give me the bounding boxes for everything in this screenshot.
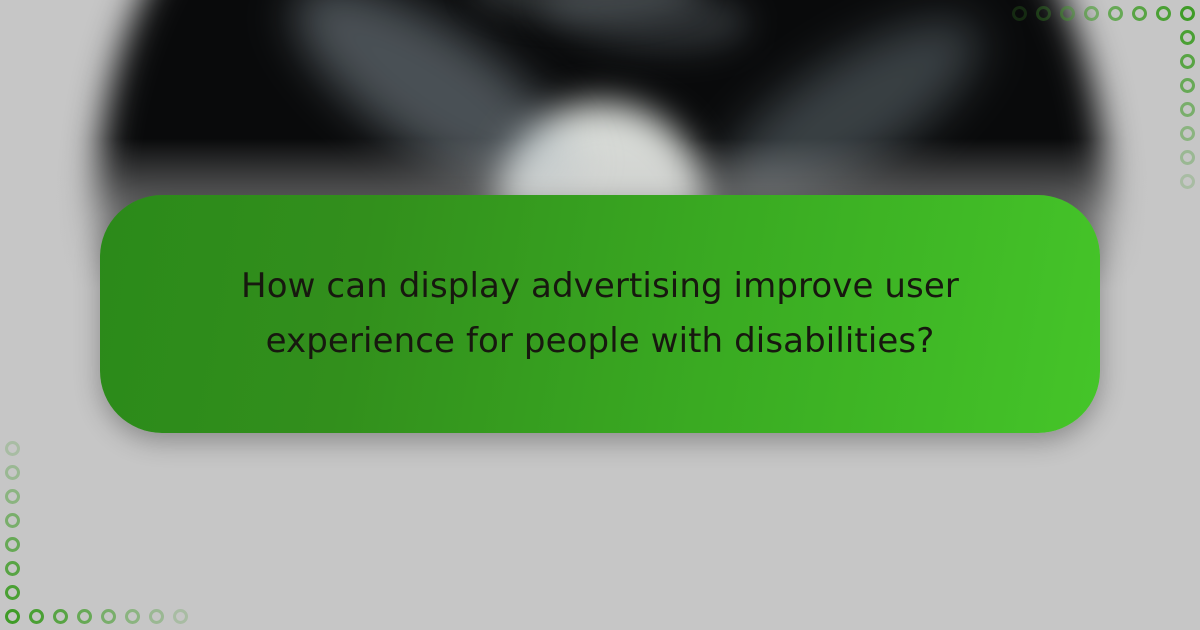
- dot-bottom-left-row-1: [29, 609, 44, 624]
- question-text: How can display advertising improve user…: [230, 259, 970, 369]
- dot-top-right-col-6: [1180, 150, 1195, 165]
- dot-top-right-col-7: [1180, 174, 1195, 189]
- dot-top-right-col-1: [1180, 30, 1195, 45]
- dot-bottom-left-col-0: [5, 441, 20, 456]
- dot-top-right-row-6: [1156, 6, 1171, 21]
- dot-top-right-col-3: [1180, 78, 1195, 93]
- dot-bottom-left-row-6: [149, 609, 164, 624]
- dot-bottom-left-row-0: [5, 609, 20, 624]
- dot-top-right-row-1: [1036, 6, 1051, 21]
- dot-top-right-row-7: [1180, 6, 1195, 21]
- dot-bottom-left-col-6: [5, 585, 20, 600]
- dot-top-right-col-4: [1180, 102, 1195, 117]
- dot-top-right-row-4: [1108, 6, 1123, 21]
- dot-top-right-col-2: [1180, 54, 1195, 69]
- dot-bottom-left-row-3: [77, 609, 92, 624]
- dot-top-right-col-5: [1180, 126, 1195, 141]
- dot-top-right-row-5: [1132, 6, 1147, 21]
- dot-top-right-row-3: [1084, 6, 1099, 21]
- dot-bottom-left-row-2: [53, 609, 68, 624]
- dot-bottom-left-col-2: [5, 489, 20, 504]
- dot-top-right-row-0: [1012, 6, 1027, 21]
- dot-top-right-row-2: [1060, 6, 1075, 21]
- dot-bottom-left-row-4: [101, 609, 116, 624]
- poster-canvas: How can display advertising improve user…: [0, 0, 1200, 630]
- dot-bottom-left-col-4: [5, 537, 20, 552]
- dot-pattern-bottom-left: [0, 430, 210, 630]
- dot-pattern-top-right: [990, 0, 1200, 200]
- dot-bottom-left-col-3: [5, 513, 20, 528]
- dot-bottom-left-row-7: [173, 609, 188, 624]
- question-card: How can display advertising improve user…: [100, 195, 1100, 433]
- dot-bottom-left-col-5: [5, 561, 20, 576]
- dot-bottom-left-col-1: [5, 465, 20, 480]
- dot-bottom-left-row-5: [125, 609, 140, 624]
